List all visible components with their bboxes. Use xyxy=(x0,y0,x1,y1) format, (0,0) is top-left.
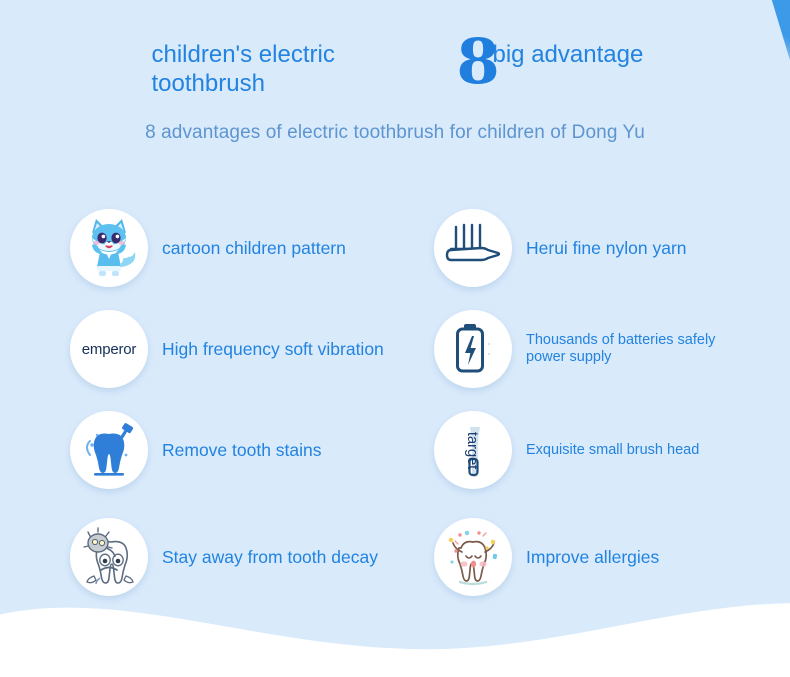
emperor-word-icon: emperor xyxy=(70,310,148,388)
feature-item-remove-stains[interactable]: Remove tooth stains xyxy=(70,411,322,489)
page-subtitle: 8 advantages of electric toothbrush for … xyxy=(0,122,790,144)
feature-item-small-brush-head[interactable]: target Exquisite small brush head xyxy=(434,411,699,489)
feature-label: Remove tooth stains xyxy=(162,440,322,460)
feature-item-soft-vibration[interactable]: emperor High frequency soft vibration xyxy=(70,310,384,388)
title-row: children's electric toothbrush 8 big adv… xyxy=(0,40,790,98)
title-right: big advantage xyxy=(493,40,673,69)
brush-head-bristles-glyph xyxy=(434,209,512,287)
title-left: children's electric toothbrush xyxy=(152,40,367,98)
battery-icon xyxy=(434,310,512,388)
bottom-wave-decoration xyxy=(0,561,790,677)
poster-canvas: children's electric toothbrush 8 big adv… xyxy=(0,0,790,677)
target-word-icon: target xyxy=(434,411,512,489)
title-right-group: 8 big advantage xyxy=(459,40,639,69)
feature-label: Thousands of batteries safely power supp… xyxy=(526,332,756,366)
tooth-brushing-glyph xyxy=(70,411,148,489)
feature-label: High frequency soft vibration xyxy=(162,339,384,359)
cartoon-fox-glyph xyxy=(70,209,148,287)
feature-label: Exquisite small brush head xyxy=(526,442,699,459)
tooth-brushing-icon xyxy=(70,411,148,489)
big-number-eight: 8 xyxy=(457,31,498,93)
feature-item-cartoon-pattern[interactable]: cartoon children pattern xyxy=(70,209,346,287)
feature-label: Herui fine nylon yarn xyxy=(526,238,687,258)
feature-label: cartoon children pattern xyxy=(162,238,346,258)
feature-item-nylon-yarn[interactable]: Herui fine nylon yarn xyxy=(434,209,687,287)
feature-item-battery-supply[interactable]: Thousands of batteries safely power supp… xyxy=(434,310,756,388)
battery-glyph xyxy=(434,310,512,388)
brush-head-bristles-icon xyxy=(434,209,512,287)
emperor-word-text: emperor xyxy=(82,341,136,358)
target-word-text: target xyxy=(464,431,481,468)
cartoon-fox-icon xyxy=(70,209,148,287)
